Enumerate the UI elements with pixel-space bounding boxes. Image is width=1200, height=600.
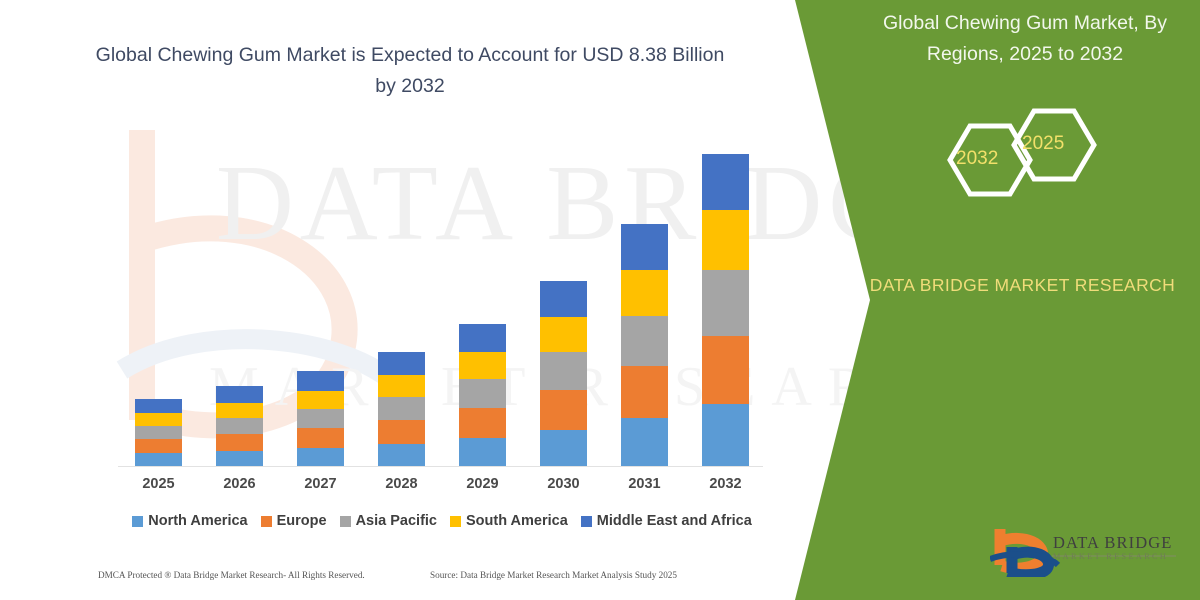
logo-subtitle: MARKET RESEARCH — [1053, 552, 1168, 561]
panel-title: Global Chewing Gum Market, By Regions, 2… — [860, 8, 1190, 70]
logo-title: DATA BRIDGE — [1053, 533, 1172, 553]
brand-name: DATA BRIDGE MARKET RESEARCH — [855, 272, 1190, 299]
infographic-canvas: DATA BRIDGE MARKET RESEARCH Global Chewi… — [0, 0, 1200, 600]
hexagon-label-2032: 2032 — [956, 148, 998, 170]
green-arrow-panel — [0, 0, 1200, 600]
hexagon-group: 2032 2025 — [930, 100, 1110, 220]
hexagon-label-2025: 2025 — [1022, 133, 1064, 155]
